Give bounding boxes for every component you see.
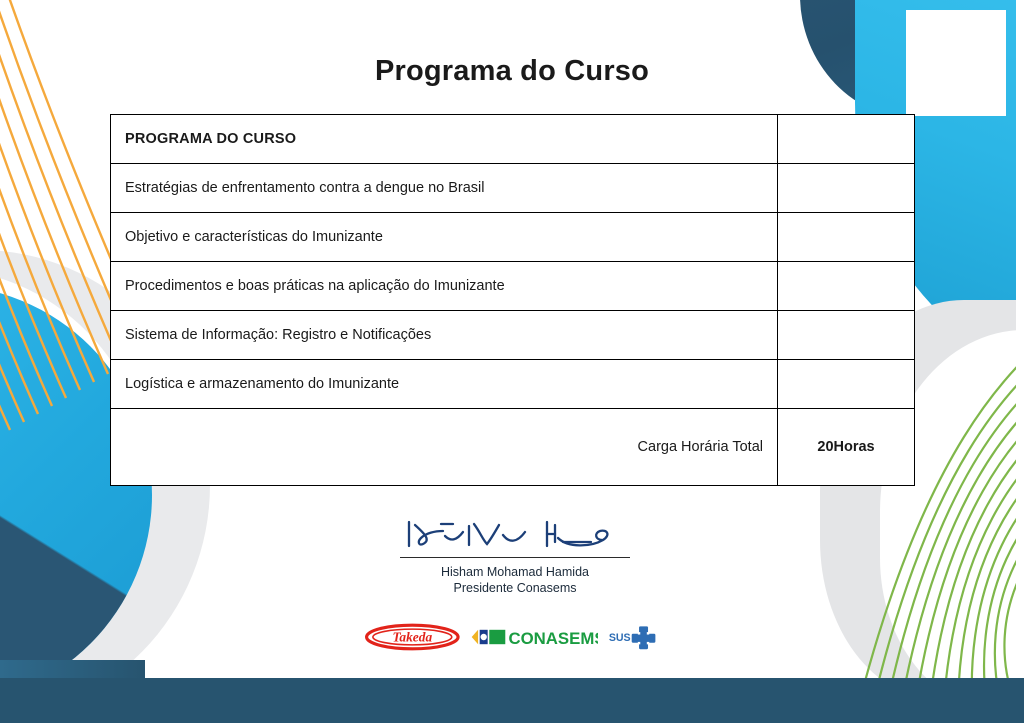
bottom-bar-left-nub <box>0 660 145 680</box>
svg-text:Takeda: Takeda <box>392 630 432 645</box>
signature-rule <box>400 557 630 558</box>
total-label: Carga Horária Total <box>111 409 778 486</box>
table-cell-hours <box>778 360 915 409</box>
signature-role: Presidente Conasems <box>380 580 650 596</box>
conasems-logo: CONASEMS <box>470 625 598 649</box>
logo-row: Takeda CONASEMS SUS <box>365 620 665 654</box>
table-cell-hours <box>778 164 915 213</box>
table-cell-topic: Sistema de Informação: Registro e Notifi… <box>111 311 778 360</box>
handwritten-signature-icon <box>395 518 635 556</box>
table-cell-hours <box>778 262 915 311</box>
takeda-logo: Takeda <box>365 622 460 652</box>
total-value: 20Horas <box>778 409 915 486</box>
svg-text:SUS: SUS <box>609 632 631 644</box>
table-row: Objetivo e características do Imunizante <box>111 213 915 262</box>
sus-logo: SUS <box>608 622 665 652</box>
table-cell-topic: Objetivo e características do Imunizante <box>111 213 778 262</box>
table-row: Logística e armazenamento do Imunizante <box>111 360 915 409</box>
slide-canvas: Programa do Curso PROGRAMA DO CURSO Estr… <box>0 0 1024 723</box>
program-table: PROGRAMA DO CURSO Estratégias de enfrent… <box>110 114 915 486</box>
table-row-header: PROGRAMA DO CURSO <box>111 115 915 164</box>
signature-block: Hisham Mohamad Hamida Presidente Conasem… <box>380 518 650 596</box>
table-cell-topic: Procedimentos e boas práticas na aplicaç… <box>111 262 778 311</box>
table-row: Estratégias de enfrentamento contra a de… <box>111 164 915 213</box>
table-row-total: Carga Horária Total 20Horas <box>111 409 915 486</box>
table-cell-hours <box>778 311 915 360</box>
table-cell-topic: Estratégias de enfrentamento contra a de… <box>111 164 778 213</box>
bottom-bar <box>0 678 1024 723</box>
table-cell-topic: Logística e armazenamento do Imunizante <box>111 360 778 409</box>
table-header-hours <box>778 115 915 164</box>
table-row: Procedimentos e boas práticas na aplicaç… <box>111 262 915 311</box>
table-row: Sistema de Informação: Registro e Notifi… <box>111 311 915 360</box>
page-title: Programa do Curso <box>0 55 1024 88</box>
signature-name: Hisham Mohamad Hamida <box>380 564 650 580</box>
table-header-label: PROGRAMA DO CURSO <box>111 115 778 164</box>
svg-text:CONASEMS: CONASEMS <box>508 629 598 648</box>
right-white-margin <box>1016 0 1024 723</box>
table-cell-hours <box>778 213 915 262</box>
